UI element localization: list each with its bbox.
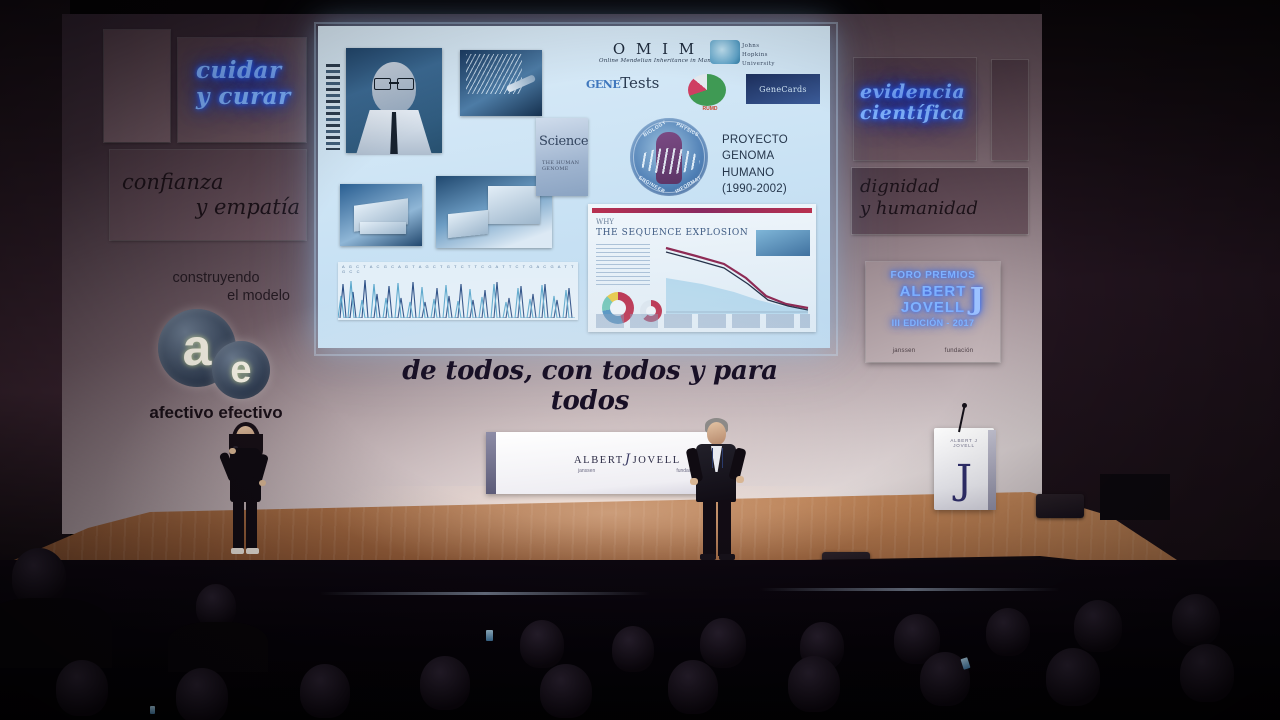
audience-head: [612, 626, 654, 672]
audience-head: [176, 668, 228, 720]
man-leg-left: [703, 500, 716, 556]
woman-hand-right: [259, 480, 266, 486]
audience-head: [1074, 600, 1122, 652]
aisle-light-1: [320, 592, 650, 595]
man-hand-right: [736, 476, 744, 483]
bench-brand-mark: J: [624, 452, 633, 467]
slide-omim-logo: O M I M Online Mendelian Inheritance in …: [590, 40, 720, 64]
slide-rumd-logo: RUMD: [688, 74, 732, 108]
ae-letter-e: e: [212, 341, 270, 399]
audience-head: [1180, 644, 1234, 702]
slide-photo-pipette: [460, 50, 542, 116]
infographic-headline: THE SEQUENCE EXPLOSION: [596, 228, 748, 238]
lectern-top-text: ALBERT J JOVELL: [940, 438, 988, 448]
presenter-woman: [216, 422, 276, 562]
panel-evidencia-line2: científica: [860, 103, 984, 124]
project-line1: PROYECTO: [722, 132, 788, 148]
project-line4: (1990-2002): [722, 181, 788, 197]
audience-head: [420, 656, 470, 710]
infographic-thumbnail: [756, 230, 810, 256]
foro-line4: III EDICIÓN - 2017: [866, 318, 1000, 328]
rumd-label: RUMD: [688, 106, 732, 112]
slide-photo-sequencer-1: [340, 184, 422, 246]
project-line3: HUMANO: [722, 165, 788, 181]
genetests-suffix: Tests: [620, 74, 659, 92]
man-head: [707, 422, 726, 445]
lectern-monogram-j: J: [934, 460, 994, 500]
lectern: ALBERT J JOVELL J: [934, 428, 994, 510]
panel-cuidar-line2: y curar: [196, 84, 308, 110]
ae-circle-e: e: [212, 341, 270, 399]
hall-wall-left: [0, 0, 70, 560]
audience-head: [1172, 594, 1220, 646]
man-lanyard: [712, 448, 723, 468]
infographic-accent-bar: [592, 208, 812, 213]
foro-sponsor-left: janssen: [893, 348, 916, 354]
stage-side-riser: [1100, 474, 1170, 520]
chromatogram-trace: [338, 272, 578, 318]
audience-head: [56, 660, 108, 716]
project-line2: GENOMA: [722, 148, 788, 164]
audience-shoulders: [168, 622, 268, 672]
panel-evidencia-line1: evidencia: [860, 82, 984, 103]
audience-seating: [0, 560, 1280, 720]
emblem-helix: [638, 148, 700, 174]
ae-top-line1: construyendo: [172, 270, 259, 286]
audience-head: [788, 656, 840, 712]
lectern-side-panel: [988, 430, 996, 510]
audience-head: [1046, 648, 1100, 706]
panel-confianza: confianza y empatía: [122, 170, 306, 220]
bench-sponsor-row: janssen fundación: [578, 468, 698, 474]
woman-hand-left: [229, 448, 236, 454]
audience-shoulders: [0, 598, 112, 668]
panel-confianza-line1: confianza: [122, 170, 306, 195]
genetests-prefix: GENE: [586, 78, 620, 91]
omim-subtitle: Online Mendelian Inheritance in Man: [590, 58, 720, 64]
audience-head: [540, 664, 592, 718]
glasses-icon: [374, 78, 414, 88]
slide-genecards-logo: GeneCards: [746, 74, 820, 104]
woman-leg-right: [246, 500, 257, 550]
panel-dignidad-line2: y humanidad: [860, 198, 1032, 220]
ae-brand-block: construyendo el modelo a e afectivo efec…: [126, 270, 306, 423]
stage-scene: cuidar y curar confianza y empatía evide…: [0, 0, 1280, 720]
foro-sponsor-right: fundación: [945, 348, 974, 354]
slide-science-magazine-cover: Science THE HUMAN GENOME: [536, 118, 588, 196]
backdrop-main-caption: de todos, con todos y para todos: [360, 356, 820, 416]
foro-sponsor-row: janssen fundación: [866, 348, 1000, 354]
infographic-kicker: WHY: [596, 218, 614, 226]
lectern-microphone-head: [962, 403, 967, 408]
ae-top-text: construyendo el modelo: [126, 270, 306, 305]
audience-phone-screen: [150, 706, 155, 714]
slide-project-text: PROYECTO GENOMA HUMANO (1990-2002): [722, 132, 788, 197]
slide-hgp-emblem-icon: BIOLOGY PHYSICS ENGINEER INFORMAT: [630, 118, 708, 196]
slide-sequence-explosion-infographic: WHY THE SEQUENCE EXPLOSION: [588, 204, 816, 332]
infographic-body-text: [596, 244, 650, 288]
slide-genetests-logo: GENETests: [586, 74, 659, 92]
panel-cuidar: cuidar y curar: [196, 58, 308, 110]
stage-bench-side: [486, 432, 496, 494]
science-subtitle: THE HUMAN GENOME: [542, 160, 588, 173]
ae-top-line2: el modelo: [126, 288, 306, 306]
bench-brand-logo: ALBERTJJOVELL: [574, 452, 681, 467]
science-title: Science: [539, 134, 588, 149]
bench-brand-right: JOVELL: [633, 455, 681, 466]
stage-monitor-4: [1036, 494, 1084, 518]
woman-shoe-left: [231, 548, 244, 554]
audience-head: [986, 608, 1030, 656]
jhu-seal-icon: [710, 40, 740, 64]
slide-dna-gel-image: [326, 64, 340, 150]
ae-bottom-text: afectivo efectivo: [126, 403, 306, 423]
foro-premios-poster: FORO PREMIOS ALBERT JOVELL J III EDICIÓN…: [866, 262, 1000, 362]
man-hand-left: [690, 478, 698, 485]
backdrop-tile-left-top: [104, 30, 170, 142]
panel-dignidad-line1: dignidad: [860, 176, 1032, 198]
panel-evidencia: evidencia científica: [860, 82, 984, 125]
woman-shoe-right: [246, 548, 259, 554]
foro-monogram-j: J: [970, 282, 984, 317]
presenter-man: [686, 418, 750, 566]
man-leg-right: [718, 500, 731, 556]
panel-confianza-line2: y empatía: [122, 195, 306, 220]
bench-sponsor-1: janssen: [578, 468, 595, 474]
foro-line1: FORO PREMIOS: [866, 270, 1000, 281]
panel-cuidar-line1: cuidar: [196, 58, 308, 84]
audience-head: [700, 618, 746, 668]
slide-surface: Science THE HUMAN GENOME O M I M Online …: [318, 26, 830, 348]
panel-dignidad: dignidad y humanidad: [860, 176, 1032, 219]
genecards-label: GeneCards: [759, 85, 807, 94]
projection-screen: Science THE HUMAN GENOME O M I M Online …: [318, 26, 830, 348]
audience-phone-screen: [486, 630, 493, 641]
aisle-light-2: [760, 588, 1060, 591]
slide-chromatogram: A G C T A C G C A G T A G C T G T C T T …: [338, 262, 578, 320]
audience-head: [668, 660, 718, 714]
slide-photo-scientist-portrait: [346, 48, 442, 153]
infographic-footnotes: [596, 314, 810, 328]
backdrop-tile-right-narrow: [992, 60, 1028, 160]
bench-brand-left: ALBERT: [574, 455, 624, 466]
woman-leg-left: [233, 500, 244, 550]
omim-title: O M I M: [590, 40, 720, 58]
slide-photo-sequencer-2: [436, 176, 552, 248]
ae-logo-icon: a e: [152, 309, 280, 401]
audience-head: [520, 620, 564, 668]
rumd-pie-icon: [688, 74, 726, 106]
audience-head: [300, 664, 350, 718]
jhu-wordmark: JohnsHopkinsUniversity: [742, 42, 775, 68]
